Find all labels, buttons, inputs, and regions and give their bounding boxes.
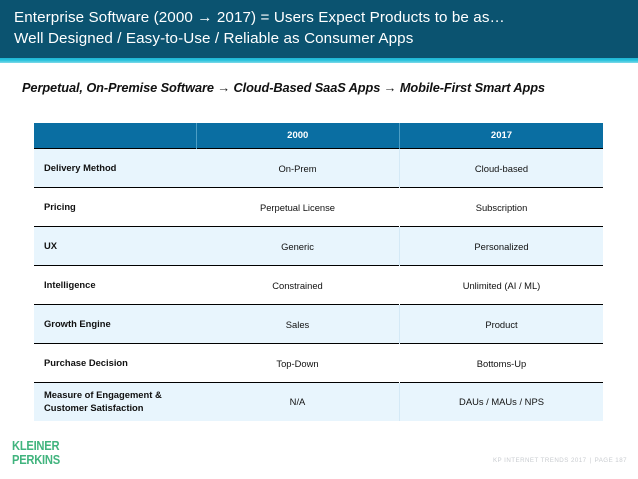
column-header-label xyxy=(34,123,196,149)
table-row: Measure of Engagement & Customer Satisfa… xyxy=(34,383,603,421)
column-header-2000: 2000 xyxy=(196,123,400,149)
row-value-2000-pricing: Perpetual License xyxy=(196,188,400,227)
footer-meta: KP INTERNET TRENDS 2017|PAGE 187 xyxy=(493,457,627,464)
comparison-table: 2000 2017 Delivery Method On-Prem Cloud-… xyxy=(34,123,603,421)
row-label-line-1: Measure of Engagement & xyxy=(44,389,196,402)
table-row: Delivery Method On-Prem Cloud-based xyxy=(34,149,603,188)
column-header-2017: 2017 xyxy=(400,123,604,149)
table-row: Intelligence Constrained Unlimited (AI /… xyxy=(34,266,603,305)
page-title-line-2: Well Designed / Easy-to-Use / Reliable a… xyxy=(14,28,624,49)
row-value-2017-delivery-method: Cloud-based xyxy=(400,149,604,188)
row-label-delivery-method: Delivery Method xyxy=(34,149,196,188)
row-value-2000-ux: Generic xyxy=(196,227,400,266)
table-header: 2000 2017 xyxy=(34,123,603,149)
logo-line-1: KLEINER xyxy=(12,439,60,453)
table-row: Pricing Perpetual License Subscription xyxy=(34,188,603,227)
table-body: Delivery Method On-Prem Cloud-based Pric… xyxy=(34,149,603,421)
footer-separator: | xyxy=(587,457,595,464)
row-value-2017-purchase-decision: Bottoms-Up xyxy=(400,344,604,383)
footer-source: KP INTERNET TRENDS 2017 xyxy=(493,457,587,464)
row-value-2000-delivery-method: On-Prem xyxy=(196,149,400,188)
row-value-2017-pricing: Subscription xyxy=(400,188,604,227)
row-value-2017-growth-engine: Product xyxy=(400,305,604,344)
row-label-purchase-decision: Purchase Decision xyxy=(34,344,196,383)
row-label-intelligence: Intelligence xyxy=(34,266,196,305)
row-value-2000-intelligence: Constrained xyxy=(196,266,400,305)
row-label-growth-engine: Growth Engine xyxy=(34,305,196,344)
row-value-2017-measure-of-engagement: DAUs / MAUs / NPS xyxy=(400,383,604,421)
header-accent-bar xyxy=(0,58,638,63)
table-row: Purchase Decision Top-Down Bottoms-Up xyxy=(34,344,603,383)
subtitle: Perpetual, On-Premise Software → Cloud-B… xyxy=(22,80,622,95)
row-value-2000-growth-engine: Sales xyxy=(196,305,400,344)
row-value-2000-measure-of-engagement: N/A xyxy=(196,383,400,421)
table-row: UX Generic Personalized xyxy=(34,227,603,266)
row-value-2017-intelligence: Unlimited (AI / ML) xyxy=(400,266,604,305)
row-value-2017-ux: Personalized xyxy=(400,227,604,266)
row-label-line-2: Customer Satisfaction xyxy=(44,402,196,415)
table-row: Growth Engine Sales Product xyxy=(34,305,603,344)
kleiner-perkins-logo: KLEINER PERKINS xyxy=(12,439,60,466)
table-header-row: 2000 2017 xyxy=(34,123,603,149)
logo-line-2: PERKINS xyxy=(12,453,60,467)
row-value-2000-purchase-decision: Top-Down xyxy=(196,344,400,383)
row-label-measure-of-engagement: Measure of Engagement & Customer Satisfa… xyxy=(34,383,196,421)
slide-header: Enterprise Software (2000 → 2017) = User… xyxy=(0,0,638,58)
row-label-pricing: Pricing xyxy=(34,188,196,227)
row-label-ux: UX xyxy=(34,227,196,266)
footer-page-number: PAGE 187 xyxy=(595,457,627,464)
page-title-line-1: Enterprise Software (2000 → 2017) = User… xyxy=(14,7,624,28)
